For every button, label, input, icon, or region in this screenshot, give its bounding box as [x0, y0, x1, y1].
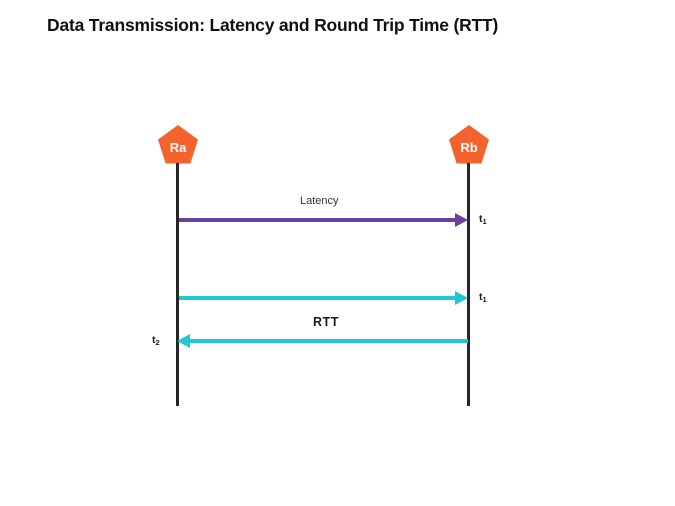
rtt-return-arrow-line — [190, 339, 468, 343]
rtt-label: RTT — [313, 315, 339, 329]
time-marker-t2-rtt-text: t — [152, 334, 156, 346]
latency-arrow-head — [455, 213, 468, 227]
time-marker-t2-rtt: t2 — [152, 334, 160, 346]
time-marker-t2-rtt-sub: 2 — [156, 338, 160, 347]
node-ra[interactable]: Ra — [157, 124, 199, 166]
pentagon-icon — [157, 124, 199, 166]
time-marker-t1-latency-text: t — [479, 213, 483, 225]
time-marker-t1-latency-sub: 1 — [483, 217, 487, 226]
lifeline-ra — [176, 163, 179, 406]
time-marker-t1-latency: t1 — [479, 213, 487, 225]
pentagon-icon — [448, 124, 490, 166]
lifeline-rb — [467, 163, 470, 406]
time-marker-t1-rtt-sub: 1 — [483, 295, 487, 304]
latency-label: Latency — [300, 195, 339, 207]
node-rb[interactable]: Rb — [448, 124, 490, 166]
slide-canvas: Data Transmission: Latency and Round Tri… — [0, 0, 675, 506]
time-marker-t1-rtt: t1 — [479, 291, 487, 303]
time-marker-t1-rtt-text: t — [479, 291, 483, 303]
latency-arrow-line — [179, 218, 457, 222]
rtt-return-arrow-head — [177, 334, 190, 348]
rtt-outbound-arrow-head — [455, 291, 468, 305]
sequence-diagram: Ra Rb Latency t1 t1 RTT t2 — [0, 0, 675, 506]
rtt-outbound-arrow-line — [179, 296, 457, 300]
